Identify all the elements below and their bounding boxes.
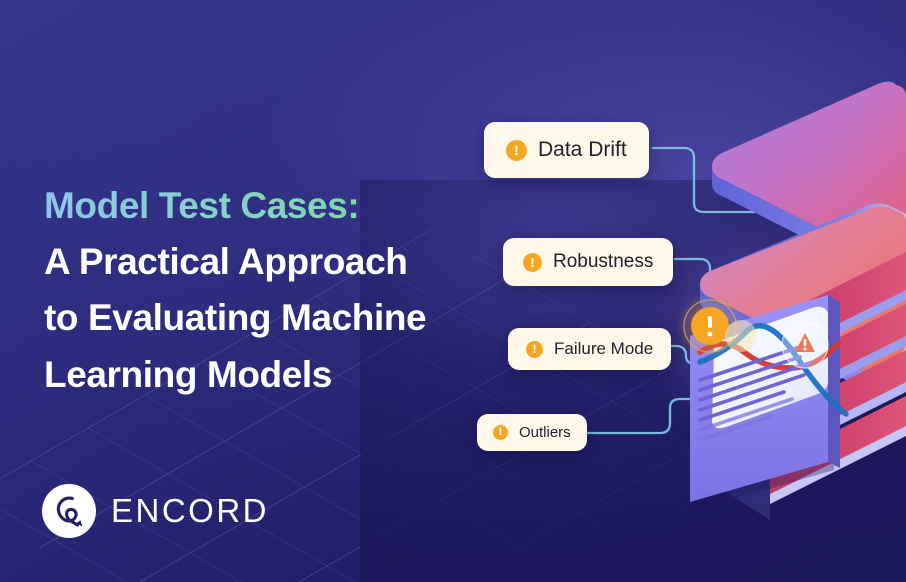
- callout-label: Failure Mode: [554, 339, 653, 359]
- headline-line-4: Learning Models: [44, 347, 474, 403]
- callout-label: Robustness: [553, 251, 653, 273]
- callout-label: Data Drift: [538, 138, 627, 162]
- headline-line-3: to Evaluating Machine: [44, 290, 474, 346]
- blog-banner: Model Test Cases: A Practical Approach t…: [0, 0, 906, 582]
- callout-outliers[interactable]: ! Outliers: [477, 414, 587, 451]
- connector-lines: [585, 148, 790, 433]
- panel-bar-lines: [700, 345, 810, 440]
- layer-plate-middle: [700, 204, 906, 385]
- warning-exclamation-icon: !: [526, 341, 543, 358]
- warning-exclamation-icon: !: [493, 425, 508, 440]
- encord-logo[interactable]: ENCORD: [42, 484, 269, 538]
- chart-warning-marker-icon: [782, 322, 828, 368]
- warning-exclamation-icon: !: [506, 140, 527, 161]
- primary-warning-badge-icon: [676, 292, 757, 360]
- callout-data-drift[interactable]: ! Data Drift: [484, 122, 649, 178]
- warning-exclamation-icon: !: [523, 253, 542, 272]
- model-dashboard-panel: [690, 295, 878, 510]
- layer-slab-stack: [692, 252, 906, 520]
- encord-e-mark-icon: [42, 484, 96, 538]
- page-title: Model Test Cases: A Practical Approach t…: [44, 178, 474, 403]
- callout-failure-mode[interactable]: ! Failure Mode: [508, 328, 671, 370]
- callout-label: Outliers: [519, 424, 571, 441]
- layer-plate-top: [712, 82, 906, 268]
- encord-wordmark: ENCORD: [111, 492, 269, 530]
- callout-robustness[interactable]: ! Robustness: [503, 238, 673, 286]
- headline-line-2: A Practical Approach: [44, 234, 474, 290]
- headline-accent-line: Model Test Cases:: [44, 185, 359, 226]
